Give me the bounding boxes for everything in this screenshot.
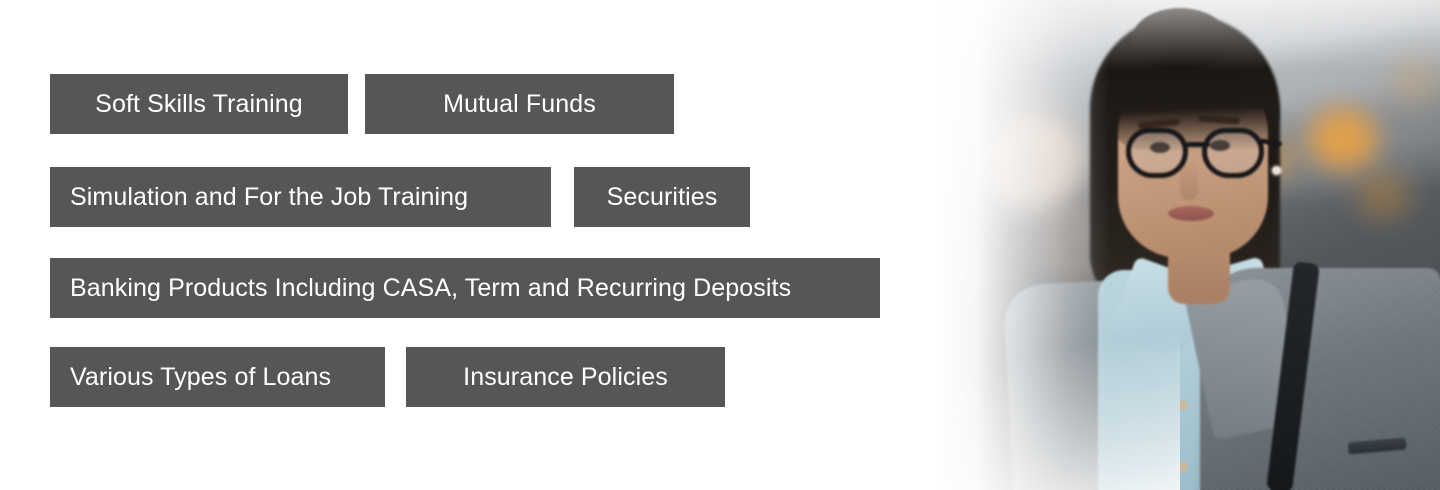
eyeglass-bridge [1186,142,1210,147]
tag-soft-skills-training[interactable]: Soft Skills Training [50,74,348,134]
hero-photo [880,0,1440,490]
tag-banking-products[interactable]: Banking Products Including CASA, Term an… [50,258,932,318]
lips [1168,206,1214,221]
photo-left-fade [880,0,1110,490]
topic-tag-list: Soft Skills Training Mutual Funds Simula… [0,0,960,490]
eyeglass-lens-right [1202,128,1264,178]
tag-simulation-and-for-the-job-training[interactable]: Simulation and For the Job Training [50,167,551,227]
tag-insurance-policies[interactable]: Insurance Policies [406,347,725,407]
tag-securities[interactable]: Securities [574,167,750,227]
eyeglasses [1122,122,1276,184]
tag-mutual-funds[interactable]: Mutual Funds [365,74,674,134]
tag-various-types-of-loans[interactable]: Various Types of Loans [50,347,385,407]
promo-banner: Soft Skills Training Mutual Funds Simula… [0,0,1440,490]
eyeglass-lens-left [1126,128,1188,178]
